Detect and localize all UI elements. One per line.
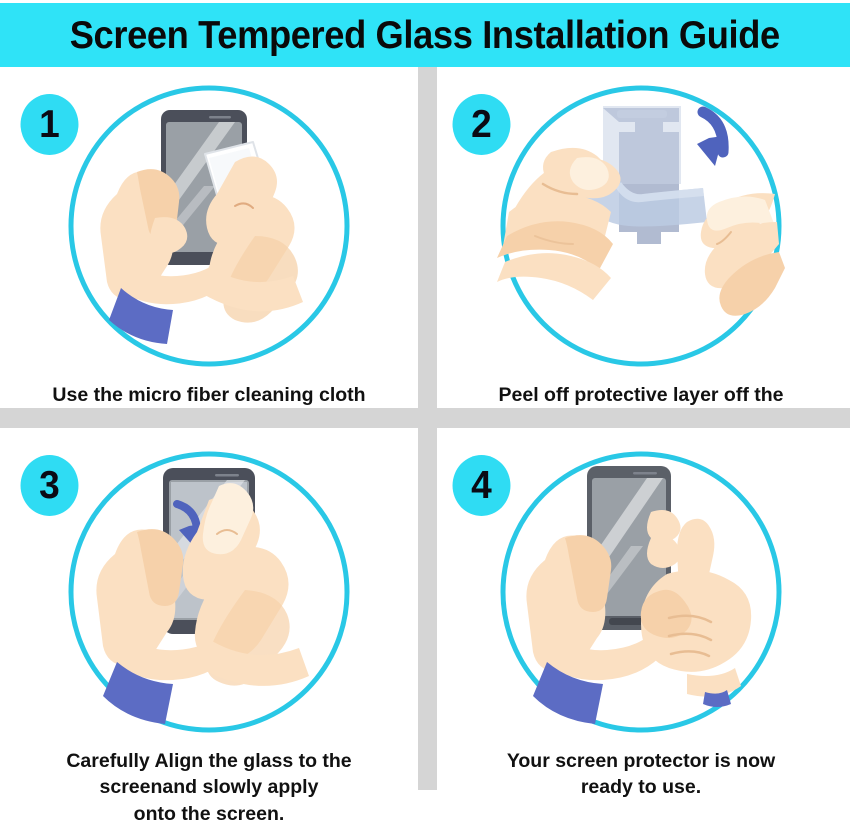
step-panel-3: 3 (0, 428, 418, 798)
steps-grid: 1 (0, 67, 850, 798)
caption-line: screenand slowly apply (66, 774, 351, 800)
caption-line: onto the screen. (66, 801, 351, 827)
header-banner: Screen Tempered Glass Installation Guide (0, 3, 850, 67)
illustration-step-2 (491, 76, 791, 376)
page-title: Screen Tempered Glass Installation Guide (70, 16, 780, 55)
step-panel-1: 1 (0, 67, 418, 408)
illustration-step-3 (59, 442, 359, 742)
caption-line: Carefully Align the glass to the (66, 748, 351, 774)
caption-line: Your screen protector is now (507, 748, 775, 774)
caption-line: Peel off protective layer off the (499, 382, 784, 408)
step-panel-4: 4 (432, 428, 850, 798)
hand-holding-phone-thumbs-up-icon (491, 442, 791, 742)
divider-vertical (418, 67, 437, 790)
illustration-step-1 (59, 76, 359, 376)
hands-peeling-protective-film-icon (491, 76, 791, 376)
caption-line: Use the micro fiber cleaning cloth (52, 382, 365, 408)
caption-line: ready to use. (507, 774, 775, 800)
hand-aligning-glass-on-phone-icon (59, 442, 359, 742)
step-panel-2: 2 (432, 67, 850, 408)
hand-cleaning-phone-with-cloth-icon (59, 76, 359, 376)
step-caption-3: Carefully Align the glass to the screena… (66, 748, 351, 827)
step-caption-4: Your screen protector is now ready to us… (507, 748, 775, 801)
illustration-step-4 (491, 442, 791, 742)
